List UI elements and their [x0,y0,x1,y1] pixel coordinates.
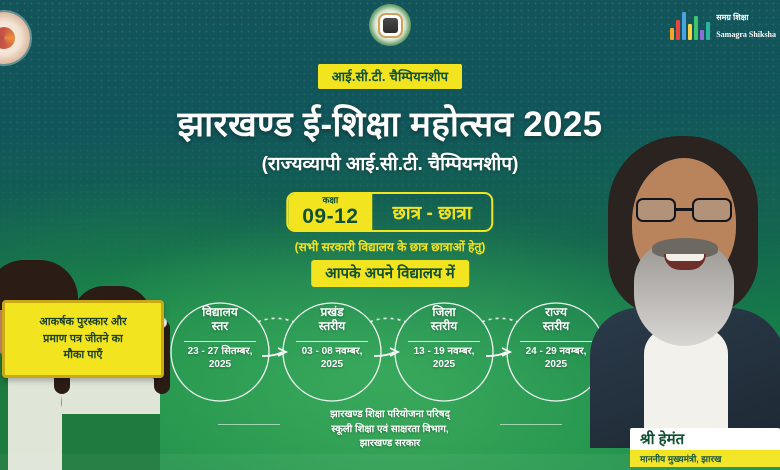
placard-line-3: मौका पाएँ [59,349,108,361]
reward-placard: आकर्षक पुरस्कार और प्रमाण पत्र जीतने का … [2,300,164,378]
stage-date-line1: 24 - 29 नवम्बर, [526,346,587,357]
stage-date-line1: 23 - 27 सितम्बर, [188,346,253,357]
stage-date-line1: 13 - 19 नवम्बर, [414,346,475,357]
class-label: कक्षा [323,196,339,205]
stage-name-line1: विद्यालय [202,305,238,319]
stage-divider [408,341,480,342]
eyeglass-lens-left [636,198,676,222]
footer-rule-left [218,424,280,425]
chief-minister-section: श्री हेमंत माननीय मुख्यमंत्री, झारख [580,30,780,470]
stage-date: 13 - 19 नवम्बर, 2025 [392,346,496,371]
stage-name-line2: स्तरीय [431,319,457,333]
stage-name-line1: राज्य [545,305,567,319]
stage-date-line2: 2025 [321,359,343,370]
cm-eyeglasses [636,198,732,222]
students-illustration: आकर्षक पुरस्कार और प्रमाण पत्र जीतने का … [0,140,190,470]
kicker-badge: आई.सी.टी. चैम्पियनशीप [318,64,463,89]
placard-line-2: प्रमाण पत्र जीतने का [38,333,128,345]
footer-line-2: स्कूली शिक्षा एवं साक्षरता विभाग, [330,423,450,438]
poster-canvas: समग्र शिक्षा Samagra Shiksha आई.सी.टी. च… [0,0,780,470]
stage-name-line1: जिला [432,305,455,319]
emblem-glyph [383,18,398,33]
institution-seal-logo [0,12,30,64]
stage-date-line2: 2025 [545,359,567,370]
stage-name: जिला स्तरीय [392,306,496,336]
stage-date-line2: 2025 [433,359,455,370]
students-label: छात्र - छात्रा [372,194,491,230]
bottom-strip [0,454,780,470]
timeline-stage: जिला स्तरीय 13 - 19 नवम्बर, 2025 [392,306,496,371]
footer-rule-right [500,424,562,425]
organizer-footer: झारखण्ड शिक्षा परियोजना परिषद् स्कूली शि… [330,408,450,452]
stage-name: प्रखंड स्तरीय [280,306,384,336]
eyeglass-lens-right [692,198,732,222]
class-range: 09-12 [302,206,358,227]
venue-badge: आपके अपने विद्यालय में [311,260,469,287]
placard-line-1: आकर्षक पुरस्कार और [34,316,131,328]
stage-date: 03 - 08 नवम्बर, 2025 [280,346,384,371]
event-timeline: विद्यालय स्तर 23 - 27 सितम्बर, 2025 प्रख… [170,298,610,406]
samagra-hindi-label: समग्र शिक्षा [716,13,748,22]
stage-divider [184,341,256,342]
stage-date-line1: 03 - 08 नवम्बर, [302,346,363,357]
timeline-stage: प्रखंड स्तरीय 03 - 08 नवम्बर, 2025 [280,306,384,371]
eyeglass-bridge [676,208,692,211]
stage-divider [296,341,368,342]
stage-name-line1: प्रखंड [320,305,343,319]
eligibility-pills: कक्षा 09-12 छात्र - छात्रा [286,192,493,232]
chief-minister-photo [590,102,780,442]
class-badge: कक्षा 09-12 [288,194,372,230]
jharkhand-government-emblem-logo [369,4,411,46]
stage-name-line2: स्तरीय [319,319,345,333]
placard-text: आकर्षक पुरस्कार और प्रमाण पत्र जीतने का … [29,314,136,364]
stage-name-line2: स्तरीय [543,319,569,333]
stage-name-line2: स्तर [212,319,228,333]
footer-line-1: झारखण्ड शिक्षा परियोजना परिषद् [330,408,450,423]
stage-date-line2: 2025 [209,359,231,370]
footer-line-3: झारखण्ड सरकार [330,437,450,452]
dignitary-name: श्री हेमंत [640,431,772,448]
